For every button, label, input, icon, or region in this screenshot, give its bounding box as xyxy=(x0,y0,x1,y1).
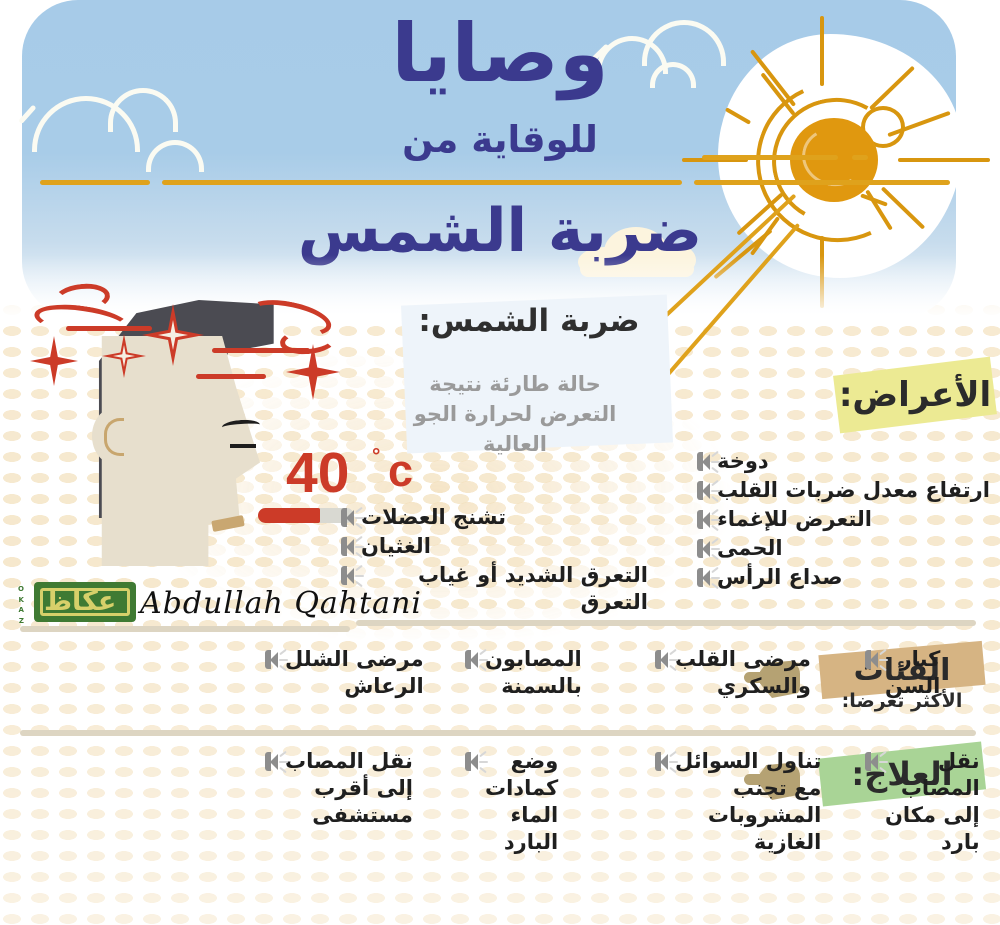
infographic-poster: وصايا للوقاية من ضربة الشمس ضربة الشمس: … xyxy=(0,0,1000,925)
treatment-text: وضع كمادات الماء البارد xyxy=(485,748,558,856)
list-item: الغثيان xyxy=(338,533,648,560)
section-divider xyxy=(20,730,976,736)
treatment-text: تناول السوائل مع تجنب المشروبات الغازية xyxy=(675,748,821,856)
dizziness-line xyxy=(196,374,266,379)
section-divider xyxy=(356,620,976,626)
arrow-bullet-icon xyxy=(462,751,479,773)
arrow-bullet-icon xyxy=(338,536,355,558)
symptom-text: الحمى xyxy=(717,535,783,562)
symptom-text: الغثيان xyxy=(361,533,431,560)
arrow-bullet-icon xyxy=(262,649,279,671)
symptoms-list-right: دوخة ارتفاع معدل ضربات القلب التعرض للإغ… xyxy=(694,448,994,592)
ear-inner xyxy=(104,418,124,456)
treatment-text: نقل المصاب إلى أقرب مستشفى xyxy=(285,748,413,829)
group-text: كبار السن xyxy=(885,646,940,700)
temperature-value: 40 xyxy=(286,440,349,506)
arrow-bullet-icon xyxy=(694,509,711,531)
treatment-row: نقل المصاب إلى مكان بارد تناول السوائل م… xyxy=(232,748,992,856)
arrow-bullet-icon xyxy=(262,751,279,773)
group-text: مرضى القلب والسكري xyxy=(675,646,811,700)
symptom-text: ارتفاع معدل ضربات القلب xyxy=(717,477,990,504)
dizziness-line xyxy=(212,348,310,353)
eye xyxy=(230,444,256,448)
section-divider xyxy=(20,626,350,632)
list-item: ارتفاع معدل ضربات القلب xyxy=(694,477,994,504)
definition-heading: ضربة الشمس: xyxy=(404,303,654,339)
arrow-bullet-icon xyxy=(694,538,711,560)
list-item: نقل المصاب إلى أقرب مستشفى xyxy=(262,748,462,856)
arrow-bullet-icon xyxy=(694,451,711,473)
list-item: كبار السن xyxy=(862,646,992,700)
list-item: دوخة xyxy=(694,448,994,475)
groups-row: كبار السن مرضى القلب والسكري المصابون با… xyxy=(232,646,992,700)
arrow-bullet-icon xyxy=(694,480,711,502)
symptom-text: صداع الرأس xyxy=(717,564,843,591)
list-item: تشنج العضلات xyxy=(338,504,648,531)
definition-body: حالة طارئة نتيجة التعرض لحرارة الجو العا… xyxy=(390,370,640,459)
logo-text: عكاظ xyxy=(44,588,116,615)
list-item: الحمى xyxy=(694,535,994,562)
group-text: المصابون بالسمنة xyxy=(485,646,582,700)
okaz-logo: OKAZ عكاظ xyxy=(18,580,138,624)
sparkle-icon xyxy=(30,336,78,386)
dizziness-line xyxy=(66,326,152,331)
arrow-bullet-icon xyxy=(462,649,479,671)
symptom-text: التعرض للإغماء xyxy=(717,506,872,533)
arrow-bullet-icon xyxy=(652,649,669,671)
symptoms-tag: الأعراض: xyxy=(836,366,994,424)
arrow-bullet-icon xyxy=(694,567,711,589)
treatment-text: نقل المصاب إلى مكان بارد xyxy=(885,748,980,856)
author-signature: Abdullah Qahtani xyxy=(140,586,422,621)
logo-sidetext: OKAZ xyxy=(18,584,25,626)
list-item: مرضى القلب والسكري xyxy=(652,646,862,700)
arrow-bullet-icon xyxy=(862,649,879,671)
list-item: التعرض للإغماء xyxy=(694,506,994,533)
symptom-text: دوخة xyxy=(717,448,769,475)
title-subtitle: للوقاية من xyxy=(0,118,1000,161)
arrow-bullet-icon xyxy=(862,751,879,773)
arrow-bullet-icon xyxy=(338,507,355,529)
head-profile-icon xyxy=(30,278,330,578)
thermometer-fill xyxy=(258,508,320,523)
temperature-unit: c xyxy=(388,445,413,497)
arrow-bullet-icon xyxy=(652,751,669,773)
group-text: مرضى الشلل الرعاش xyxy=(285,646,424,700)
list-item: المصابون بالسمنة xyxy=(462,646,652,700)
list-item: تناول السوائل مع تجنب المشروبات الغازية xyxy=(652,748,862,856)
list-item: نقل المصاب إلى مكان بارد xyxy=(862,748,992,856)
symptom-text: تشنج العضلات xyxy=(361,504,506,531)
degree-sign: ° xyxy=(372,445,380,469)
list-item: صداع الرأس xyxy=(694,564,994,591)
list-item: وضع كمادات الماء البارد xyxy=(462,748,652,856)
arrow-bullet-icon xyxy=(338,565,355,587)
symptoms-tag-label: الأعراض: xyxy=(839,375,991,415)
title-main: وصايا xyxy=(0,14,1000,94)
list-item: مرضى الشلل الرعاش xyxy=(262,646,462,700)
